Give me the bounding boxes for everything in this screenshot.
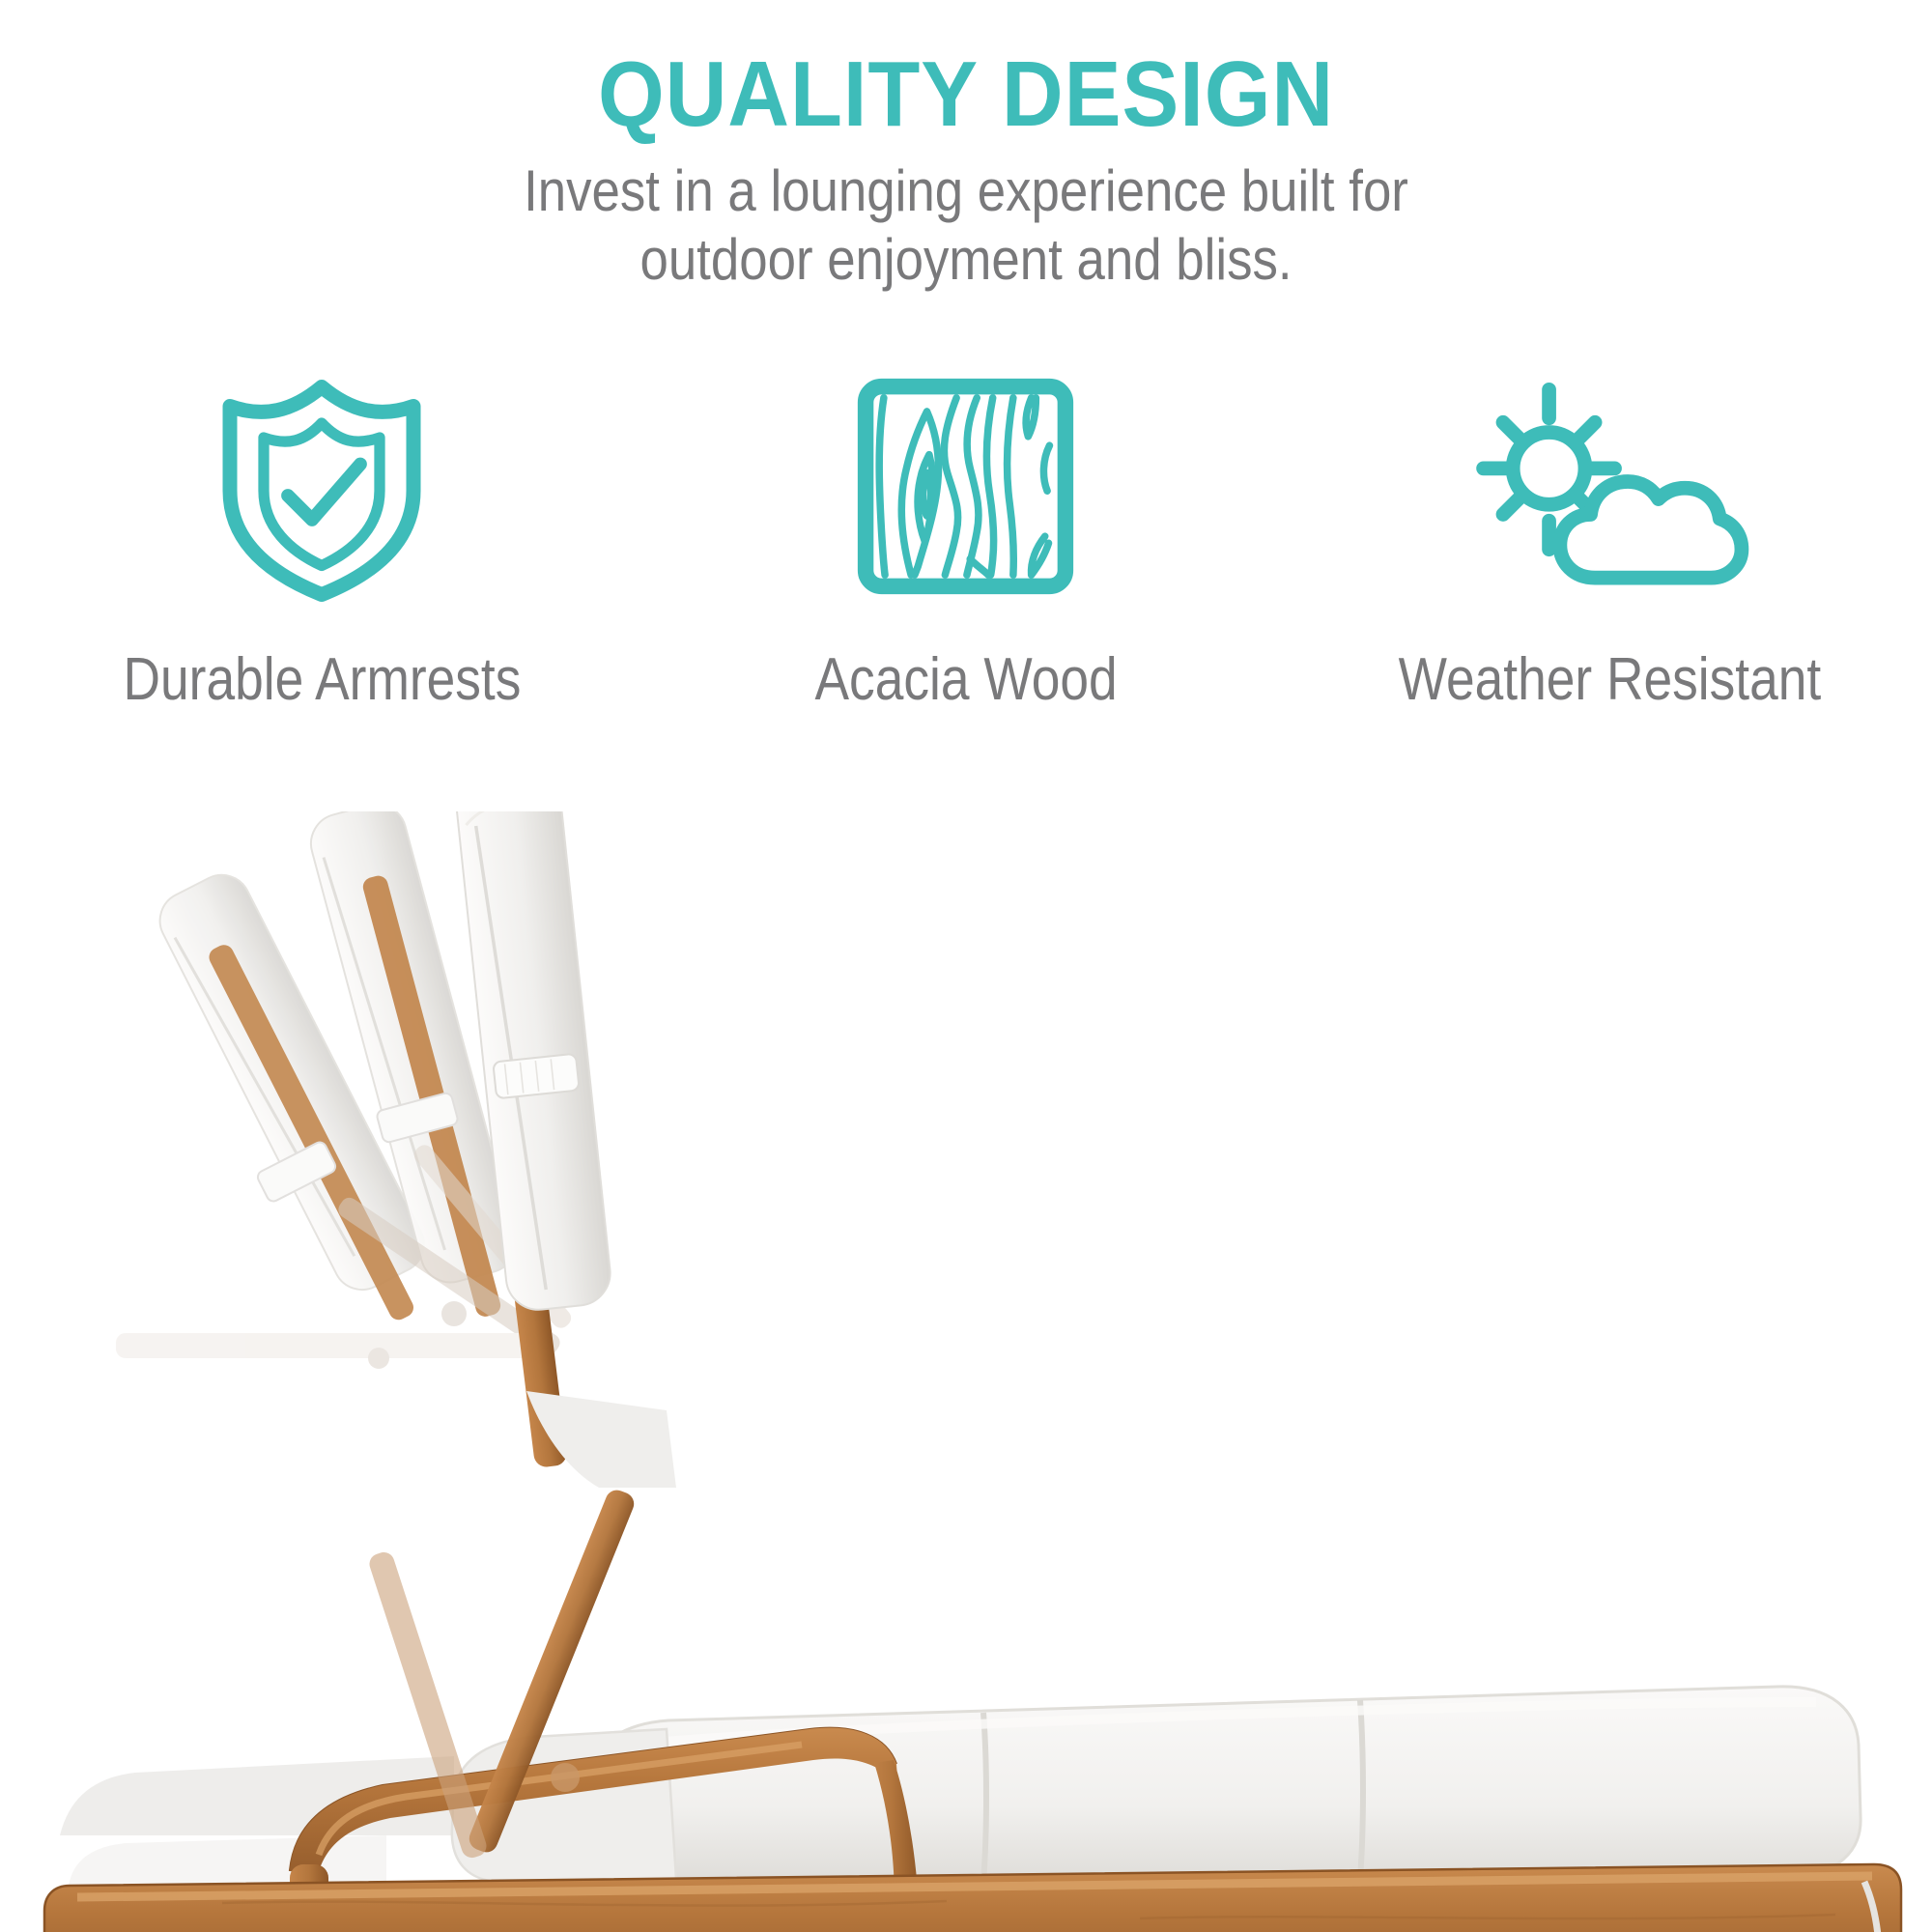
feature-label-acacia-wood: Acacia Wood [814,645,1117,714]
feature-label-durable-armrests: Durable Armrests [123,645,521,714]
feature-durable-armrests: Durable Armrests [22,365,621,714]
header-block: QUALITY DESIGN Invest in a lounging expe… [0,0,1932,294]
feature-acacia-wood: Acacia Wood [667,365,1265,714]
page-title: QUALITY DESIGN [77,46,1855,144]
product-image [0,811,1932,1932]
wood-grain-icon [852,365,1079,607]
subtitle-line-2: outdoor enjoyment and bliss. [116,226,1816,295]
feature-weather-resistant: Weather Resistant [1311,365,1910,714]
feature-label-weather-resistant: Weather Resistant [1399,645,1822,714]
subtitle-line-1: Invest in a lounging experience built fo… [524,158,1408,223]
page-subtitle: Invest in a lounging experience built fo… [116,157,1816,295]
sun-cloud-icon [1470,365,1750,607]
feature-row: Durable Armrests [0,365,1932,714]
shield-check-icon [201,365,442,607]
